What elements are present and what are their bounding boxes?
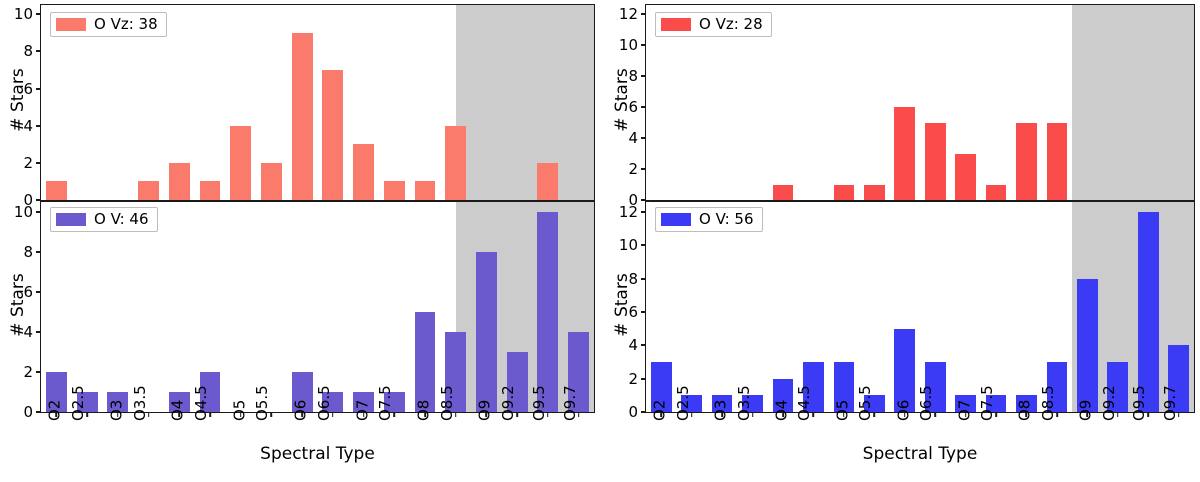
x-tick-label: O7 xyxy=(353,400,371,421)
bar-cell xyxy=(829,5,859,200)
x-tick-label: O4 xyxy=(169,400,187,421)
x-tick-label: O9.7 xyxy=(1161,385,1179,421)
x-tick-label: O3.5 xyxy=(735,385,753,421)
y-tick-mark xyxy=(641,137,646,139)
plot-area-bottom-right xyxy=(646,202,1194,412)
bar-cell xyxy=(1133,202,1163,412)
axes-top-left: 0 2 4 6 8 10 O Vz: 38 xyxy=(40,4,595,201)
bar-cell xyxy=(798,5,828,200)
bar-O6 xyxy=(292,33,313,200)
x-tick-label: O7 xyxy=(955,400,973,421)
y-tick-mark xyxy=(36,211,41,213)
x-tick-label: O9.2 xyxy=(499,385,517,421)
bar-cell xyxy=(707,202,737,412)
bar-cell xyxy=(737,202,767,412)
bar-cell xyxy=(440,5,471,200)
bar-cell xyxy=(164,202,195,412)
x-tick-label: O3 xyxy=(711,400,729,421)
y-tick-label: 4 xyxy=(628,127,638,149)
bar-O8 xyxy=(1016,123,1037,200)
bar-O5 xyxy=(834,185,855,200)
bar-cell xyxy=(533,5,564,200)
bar-cell xyxy=(890,202,920,412)
bar-cell xyxy=(410,5,441,200)
x-tick-label: O5.5 xyxy=(254,385,272,421)
bar-cell xyxy=(890,5,920,200)
bars-bottom-right xyxy=(646,202,1194,412)
bar-O6 xyxy=(894,107,915,200)
x-tick-label: O2 xyxy=(651,400,669,421)
y-tick-label: 12 xyxy=(619,201,638,223)
y-tick-label: 12 xyxy=(619,3,638,25)
bar-cell xyxy=(195,202,226,412)
bar-O9 xyxy=(476,252,497,412)
bar-cell xyxy=(348,5,379,200)
bar-O9 xyxy=(1077,279,1098,412)
x-tick-label: O9 xyxy=(476,400,494,421)
x-tick-label: O5 xyxy=(833,400,851,421)
bar-cell xyxy=(920,202,950,412)
x-tick-label: O6 xyxy=(894,400,912,421)
bar-cell xyxy=(1072,5,1102,200)
bar-cell xyxy=(981,202,1011,412)
bar-cell xyxy=(981,5,1011,200)
bar-cell xyxy=(768,202,798,412)
y-tick-mark xyxy=(36,371,41,373)
bar-cell xyxy=(379,202,410,412)
bar-cell xyxy=(1042,202,1072,412)
y-tick-mark xyxy=(641,44,646,46)
y-tick-mark xyxy=(641,278,646,280)
x-tick-label: O9.5 xyxy=(1130,385,1148,421)
bar-cell xyxy=(256,5,287,200)
bar-O9.5 xyxy=(537,212,558,412)
y-tick-label: 4 xyxy=(628,334,638,356)
bar-cell xyxy=(676,202,706,412)
bar-cell xyxy=(1011,5,1041,200)
x-tick-label: O6 xyxy=(291,400,309,421)
x-axis-label-right: Spectral Type xyxy=(645,444,1195,464)
bar-O6.5 xyxy=(322,70,343,200)
x-tick-label: O4.5 xyxy=(192,385,210,421)
y-tick-mark xyxy=(641,168,646,170)
y-tick-label: 8 xyxy=(23,241,33,263)
bar-cell xyxy=(646,202,676,412)
x-tick-label: O5 xyxy=(230,400,248,421)
bar-O7.5 xyxy=(986,185,1007,200)
x-tick-label: O4.5 xyxy=(796,385,814,421)
bar-cell xyxy=(72,202,103,412)
legend-top-left[interactable]: O Vz: 38 xyxy=(50,12,167,37)
bar-O8.5 xyxy=(1047,123,1068,200)
y-tick-label: 10 xyxy=(14,3,33,25)
bar-cell xyxy=(317,202,348,412)
y-tick-label: 8 xyxy=(23,40,33,62)
legend-bottom-left[interactable]: O V: 46 xyxy=(50,207,158,232)
bar-O9.5 xyxy=(537,163,558,200)
bar-cell xyxy=(102,202,133,412)
y-tick-mark xyxy=(36,125,41,127)
bars-bottom-left xyxy=(41,202,594,412)
bar-cell xyxy=(133,202,164,412)
x-tick-label: O2.5 xyxy=(674,385,692,421)
legend-label-o-v-56: O V: 56 xyxy=(699,211,754,228)
axes-bottom-left: 0 2 4 6 8 10 O V: 46 O2O2.5O3O3.5O4O4.5O… xyxy=(40,201,595,413)
bar-cell xyxy=(502,202,533,412)
y-tick-mark xyxy=(36,251,41,253)
legend-label-o-vz-28: O Vz: 28 xyxy=(699,16,763,33)
legend-swatch-o-v-46 xyxy=(56,213,86,226)
x-tick-label: O6.5 xyxy=(917,385,935,421)
bar-O7 xyxy=(353,144,374,200)
y-tick-label: 8 xyxy=(628,268,638,290)
bar-cell xyxy=(471,5,502,200)
y-tick-label: 6 xyxy=(23,281,33,303)
bar-cell xyxy=(410,202,441,412)
x-tick-label: O8.5 xyxy=(438,385,456,421)
bar-cell xyxy=(950,202,980,412)
y-tick-mark xyxy=(641,378,646,380)
bar-O8 xyxy=(415,312,436,412)
x-tick-label: O9.2 xyxy=(1100,385,1118,421)
y-tick-mark xyxy=(36,13,41,15)
x-tick-label: O7.5 xyxy=(376,385,394,421)
y-tick-label: 8 xyxy=(628,65,638,87)
bar-cell xyxy=(829,202,859,412)
x-tick-label: O2 xyxy=(46,400,64,421)
x-tick-label: O8 xyxy=(1016,400,1034,421)
y-tick-mark xyxy=(641,311,646,313)
y-tick-label: 2 xyxy=(628,158,638,180)
legend-label-o-vz-38: O Vz: 38 xyxy=(94,16,158,33)
bar-O5.5 xyxy=(261,163,282,200)
y-tick-label: 10 xyxy=(619,234,638,256)
bar-cell xyxy=(225,5,256,200)
bar-cell xyxy=(317,5,348,200)
y-tick-label: 0 xyxy=(628,401,638,423)
y-tick-label: 2 xyxy=(23,361,33,383)
legend-swatch-o-v-56 xyxy=(661,213,691,226)
bar-cell xyxy=(1163,202,1193,412)
bar-cell xyxy=(859,202,889,412)
bar-cell xyxy=(1103,5,1133,200)
bar-cell xyxy=(256,202,287,412)
x-tick-label: O5.5 xyxy=(856,385,874,421)
x-tick-label: O7.5 xyxy=(978,385,996,421)
x-tick-label: O8 xyxy=(414,400,432,421)
bar-cell xyxy=(563,202,594,412)
y-tick-label: 10 xyxy=(619,34,638,56)
bar-cell xyxy=(164,5,195,200)
bar-cell xyxy=(1163,5,1193,200)
bar-O3.5 xyxy=(138,181,159,200)
y-tick-mark xyxy=(36,88,41,90)
bar-O9.5 xyxy=(1138,212,1159,412)
bar-O8 xyxy=(415,181,436,200)
bar-cell xyxy=(1072,202,1102,412)
bar-cell xyxy=(471,202,502,412)
bar-O5 xyxy=(230,126,251,200)
y-tick-label: 4 xyxy=(23,321,33,343)
x-tick-label: O9 xyxy=(1077,400,1095,421)
x-tick-label: O3 xyxy=(107,400,125,421)
bar-cell xyxy=(41,202,72,412)
y-tick-label: 10 xyxy=(14,201,33,223)
x-tick-label: O9.5 xyxy=(530,385,548,421)
figure-root: # Stars # Stars 0 2 4 6 8 10 O Vz: 38 xyxy=(0,0,1200,466)
y-tick-label: 2 xyxy=(628,368,638,390)
legend-top-right[interactable]: O Vz: 28 xyxy=(655,12,772,37)
x-axis-label-left: Spectral Type xyxy=(40,444,595,464)
right-panel-column: # Stars # Stars 0 2 4 6 8 10 12 O Vz: 28 xyxy=(600,0,1200,466)
bar-cell xyxy=(1103,202,1133,412)
bar-cell xyxy=(920,5,950,200)
bar-cell xyxy=(1011,202,1041,412)
y-tick-label: 6 xyxy=(628,301,638,323)
bar-cell xyxy=(225,202,256,412)
y-tick-label: 0 xyxy=(23,401,33,423)
bar-O7.5 xyxy=(384,181,405,200)
bar-cell xyxy=(859,5,889,200)
y-tick-mark xyxy=(641,106,646,108)
bar-O4 xyxy=(169,163,190,200)
y-tick-label: 2 xyxy=(23,152,33,174)
bar-cell xyxy=(768,5,798,200)
bar-O4.5 xyxy=(200,181,221,200)
y-tick-mark xyxy=(641,13,646,15)
legend-swatch-o-vz-28 xyxy=(661,18,691,31)
y-tick-mark xyxy=(641,75,646,77)
y-tick-label: 6 xyxy=(23,78,33,100)
bar-cell xyxy=(1042,5,1072,200)
bar-cell xyxy=(950,5,980,200)
bar-cell xyxy=(798,202,828,412)
bar-O4 xyxy=(773,185,794,200)
legend-swatch-o-vz-38 xyxy=(56,18,86,31)
bar-O2 xyxy=(46,181,67,200)
axes-top-right: 0 2 4 6 8 10 12 O Vz: 28 xyxy=(645,4,1195,201)
bar-cell xyxy=(440,202,471,412)
y-tick-mark xyxy=(641,244,646,246)
x-tick-label: O6.5 xyxy=(315,385,333,421)
bar-O5.5 xyxy=(864,185,885,200)
axes-bottom-right: 0 2 4 6 8 10 12 O V: 56 O2O2.5O3O3.5O4O4… xyxy=(645,201,1195,413)
x-tick-label: O4 xyxy=(772,400,790,421)
x-tick-label: O9.7 xyxy=(561,385,579,421)
bar-O8.5 xyxy=(445,126,466,200)
bar-cell xyxy=(195,5,226,200)
y-tick-mark xyxy=(36,291,41,293)
left-panel-column: # Stars # Stars 0 2 4 6 8 10 O Vz: 38 xyxy=(0,0,600,466)
bar-cell xyxy=(1133,5,1163,200)
bar-cell xyxy=(287,5,318,200)
y-tick-label: 4 xyxy=(23,115,33,137)
y-tick-label: 6 xyxy=(628,96,638,118)
x-tick-label: O8.5 xyxy=(1039,385,1057,421)
legend-label-o-v-46: O V: 46 xyxy=(94,211,149,228)
y-tick-mark xyxy=(36,162,41,164)
y-tick-mark xyxy=(36,50,41,52)
bar-O7 xyxy=(955,154,976,200)
y-tick-mark xyxy=(641,211,646,213)
x-tick-label: O3.5 xyxy=(131,385,149,421)
bar-O6.5 xyxy=(925,123,946,200)
x-tick-label: O2.5 xyxy=(69,385,87,421)
legend-bottom-right[interactable]: O V: 56 xyxy=(655,207,763,232)
bar-cell xyxy=(348,202,379,412)
bar-cell xyxy=(563,5,594,200)
bar-cell xyxy=(287,202,318,412)
plot-area-bottom-left xyxy=(41,202,594,412)
y-tick-mark xyxy=(641,344,646,346)
bar-cell xyxy=(379,5,410,200)
bar-cell xyxy=(502,5,533,200)
y-tick-mark xyxy=(36,331,41,333)
bar-cell xyxy=(533,202,564,412)
